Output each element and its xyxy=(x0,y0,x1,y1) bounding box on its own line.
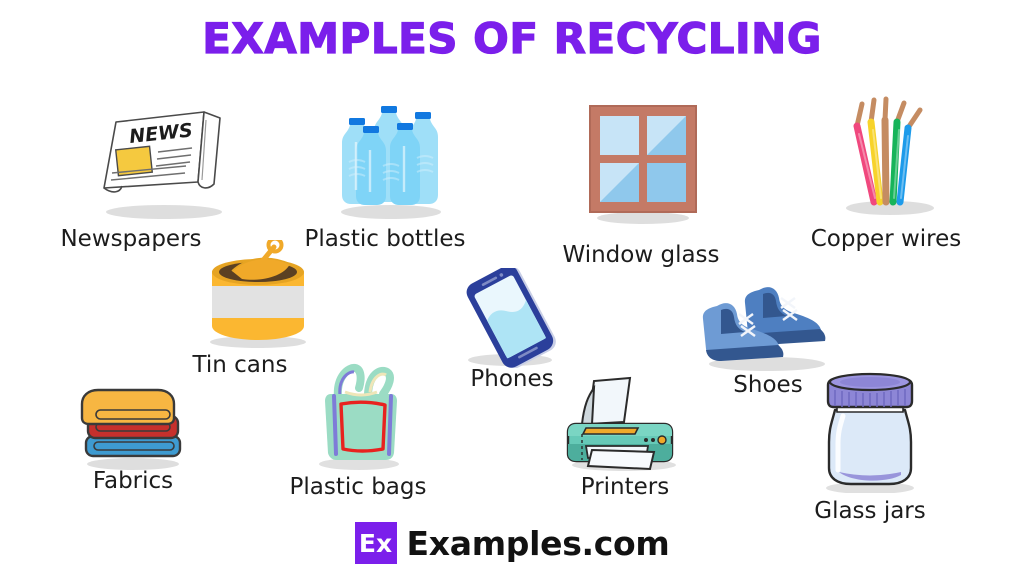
printer-icon xyxy=(558,372,693,476)
brand-name: Examples.com xyxy=(407,524,670,563)
glass-jar-icon xyxy=(813,368,928,497)
infographic-canvas: EXAMPLES OF RECYCLING NEWS xyxy=(0,0,1024,576)
logo-badge-icon: Ex xyxy=(355,522,397,564)
caption-window-glass: Window glass xyxy=(562,242,719,268)
tin-can-icon xyxy=(198,240,328,354)
caption-tin-cans: Tin cans xyxy=(193,352,288,378)
caption-glass-jars: Glass jars xyxy=(814,498,926,524)
phone-icon xyxy=(458,268,568,372)
caption-copper-wires: Copper wires xyxy=(811,226,962,252)
shoes-icon xyxy=(697,272,842,376)
footer-brand: Ex Examples.com xyxy=(0,522,1024,564)
caption-shoes: Shoes xyxy=(733,372,802,398)
caption-phones: Phones xyxy=(470,366,553,392)
caption-newspapers: Newspapers xyxy=(60,226,201,252)
window-glass-icon xyxy=(583,100,703,229)
plastic-bottles-icon xyxy=(327,96,457,225)
page-title: EXAMPLES OF RECYCLING xyxy=(0,14,1024,63)
plastic-bag-icon xyxy=(305,362,415,476)
caption-plastic-bottles: Plastic bottles xyxy=(305,226,466,252)
newspaper-icon: NEWS xyxy=(86,96,236,225)
caption-plastic-bags: Plastic bags xyxy=(290,474,427,500)
caption-fabrics: Fabrics xyxy=(93,468,173,494)
copper-wires-icon xyxy=(838,90,948,219)
caption-printers: Printers xyxy=(581,474,670,500)
folded-fabrics-icon xyxy=(76,380,191,474)
